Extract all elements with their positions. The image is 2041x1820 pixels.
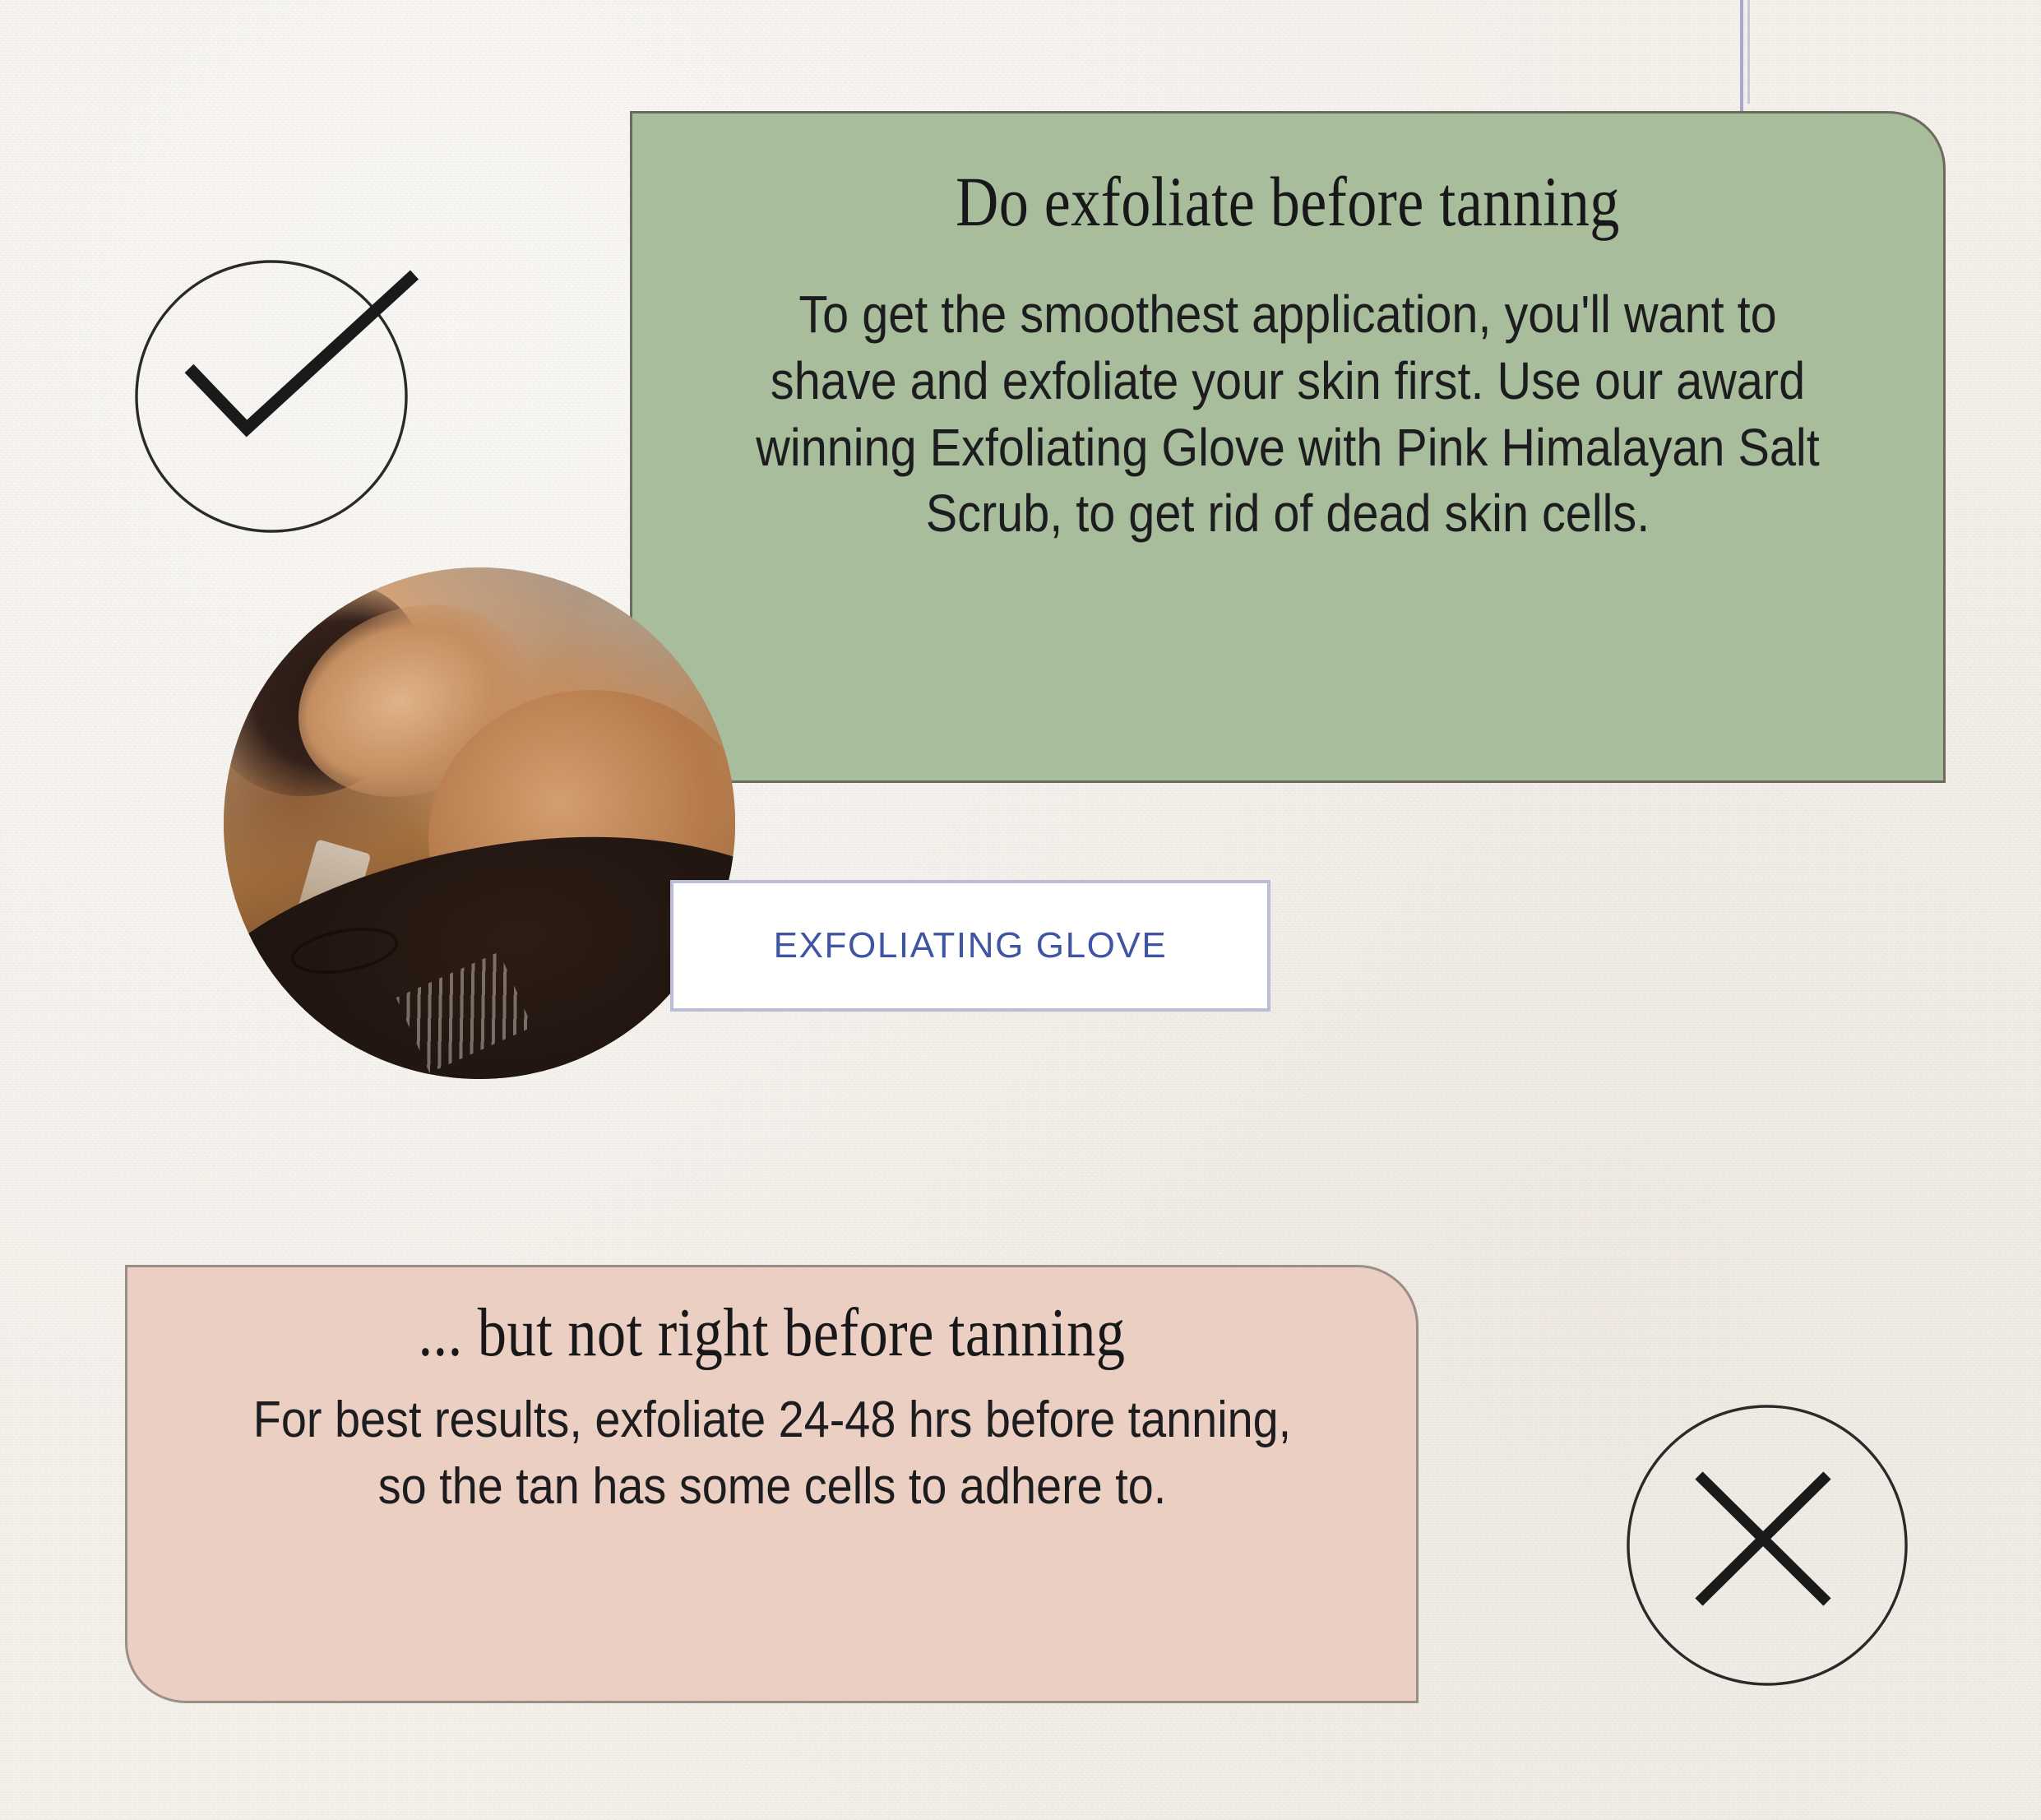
dont-card-body-text: For best results, exfoliate 24-48 hrs be… xyxy=(247,1369,1298,1520)
do-exfoliate-card: Do exfoliate before tanning To get the s… xyxy=(630,111,1946,783)
exfoliating-glove-button[interactable]: EXFOLIATING GLOVE xyxy=(670,880,1270,1012)
model-shoulder-photo xyxy=(224,567,735,1079)
x-circle-icon xyxy=(1620,1398,1914,1693)
do-card-body-text: To get the smoothest application, you'll… xyxy=(743,238,1834,547)
dont-exfoliate-card: ... but not right before tanning For bes… xyxy=(125,1265,1419,1703)
do-card-heading: Do exfoliate before tanning xyxy=(779,160,1797,238)
exfoliating-glove-button-label: EXFOLIATING GLOVE xyxy=(774,925,1168,966)
dont-card-heading: ... but not right before tanning xyxy=(258,1295,1285,1369)
check-circle-icon xyxy=(125,243,431,549)
content-stage: Do exfoliate before tanning To get the s… xyxy=(0,0,2041,1820)
hanging-thread-line xyxy=(1740,0,1743,115)
hanging-thread-line-shadow xyxy=(1747,0,1750,104)
